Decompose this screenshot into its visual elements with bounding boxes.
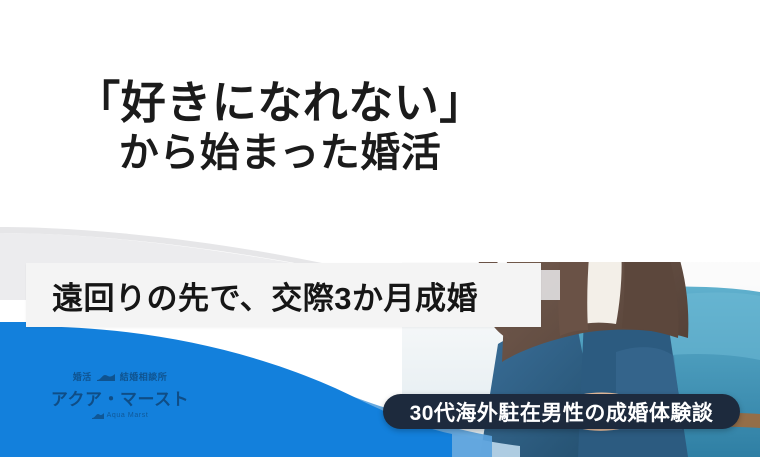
logo-tagline: 婚活 結婚相談所	[40, 370, 200, 383]
mountain-wave-icon	[97, 373, 115, 381]
logo-name: アクア・マースト	[40, 385, 200, 410]
logo-romanized-row: Aqua Marst	[40, 412, 200, 419]
mountain-wave-icon-small	[92, 413, 104, 419]
subtitle-band: 遠回りの先で、交際3か月成婚	[26, 263, 541, 327]
hero-photo	[402, 0, 760, 457]
subtitle-text: 遠回りの先で、交際3か月成婚	[52, 273, 478, 318]
page-title: 「好きになれない」 から始まった婚活	[0, 78, 560, 177]
headline-line-1: 「好きになれない」	[0, 78, 560, 128]
status-banner: 30代海外駐在男性の成婚体験談	[383, 394, 740, 429]
brand-logo[interactable]: 婚活 結婚相談所 アクア・マースト Aqua Marst	[40, 370, 200, 419]
logo-romanized: Aqua Marst	[107, 412, 149, 419]
logo-tagline-right: 結婚相談所	[120, 370, 168, 383]
logo-tagline-left: 婚活	[73, 370, 92, 383]
marriage-agency-banner: 「好きになれない」 から始まった婚活 遠回りの先で、交際3か月成婚 婚活 結婚相…	[0, 0, 760, 457]
status-banner-text: 30代海外駐在男性の成婚体験談	[410, 397, 714, 427]
headline-line-2: から始まった婚活	[0, 130, 560, 176]
